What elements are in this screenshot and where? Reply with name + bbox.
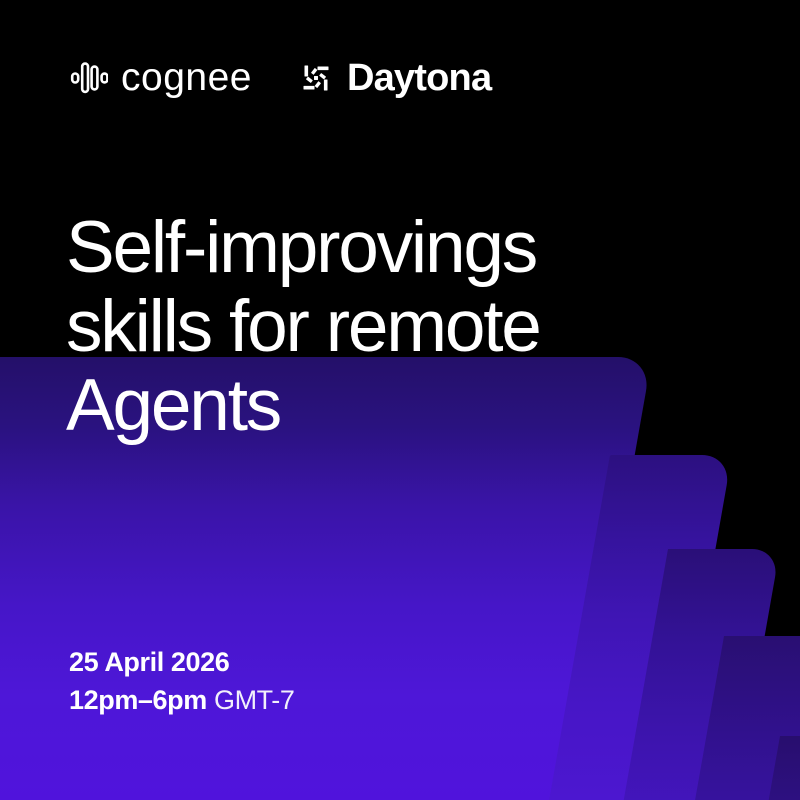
card-content: cognee	[0, 0, 800, 800]
daytona-wordmark: Daytona	[347, 59, 491, 97]
headline-line-1: Self-improvings	[66, 208, 706, 287]
event-time-line: 12pm–6pm GMT-7	[69, 681, 295, 719]
event-date-line: 25 April 2026	[69, 643, 295, 681]
page-title: Self-improvings skills for remote Agents	[66, 208, 706, 445]
event-promo-card: cognee	[0, 0, 800, 800]
logo-bar: cognee	[68, 58, 491, 97]
cognee-logo: cognee	[68, 58, 252, 97]
cognee-wordmark: cognee	[121, 58, 252, 97]
event-date: 25 April 2026	[69, 647, 229, 677]
daytona-pinwheel-icon	[298, 60, 334, 96]
cognee-waveform-icon	[68, 60, 108, 96]
event-details: 25 April 2026 12pm–6pm GMT-7	[69, 643, 295, 719]
event-time: 12pm–6pm	[69, 685, 207, 715]
headline-line-3: Agents	[66, 366, 706, 445]
daytona-logo: Daytona	[298, 59, 491, 97]
event-timezone-spacer	[207, 685, 214, 715]
headline-line-2: skills for remote	[66, 287, 706, 366]
event-timezone: GMT-7	[214, 685, 295, 715]
